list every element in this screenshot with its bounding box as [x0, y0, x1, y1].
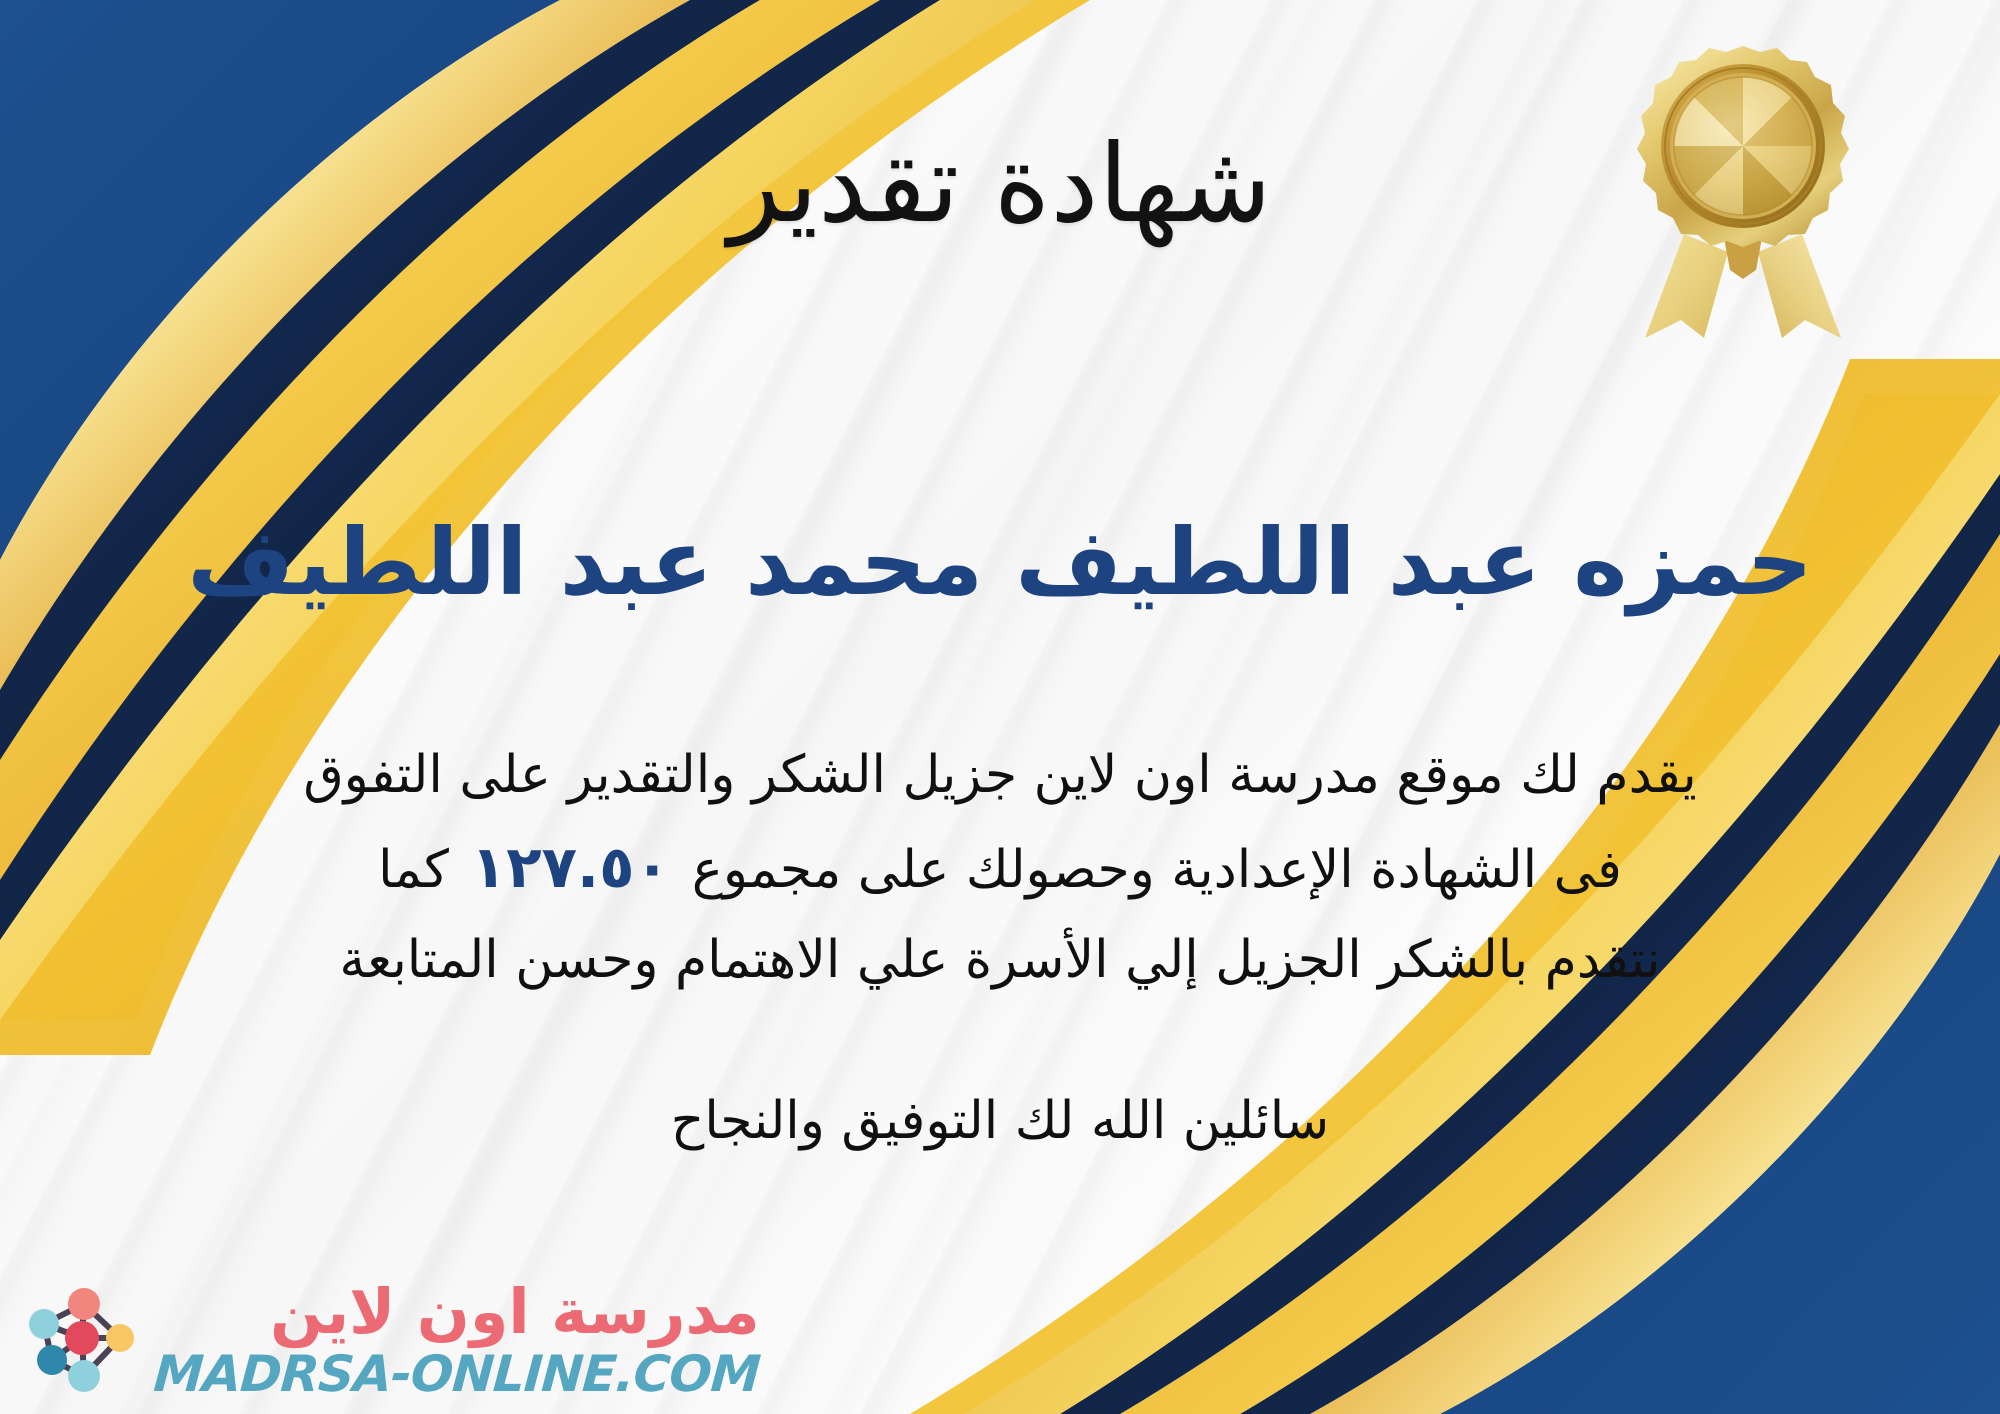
node-lightblue-bottom [68, 1360, 100, 1392]
certificate-body: يقدم لك موقع مدرسة اون لاين جزيل الشكر و… [90, 732, 1910, 1004]
body-line-1: يقدم لك موقع مدرسة اون لاين جزيل الشكر و… [90, 732, 1910, 819]
network-nodes-icon [22, 1280, 142, 1400]
gold-medal-rosette-icon [1612, 38, 1874, 338]
brand-logo[interactable]: مدرسة اون لاين MADRSA-ONLINE.COM [22, 1280, 760, 1400]
node-darkteal [37, 1345, 67, 1375]
body-line-2: فى الشهادة الإعدادية وحصولك على مجموع١٢٧… [90, 819, 1910, 916]
logo-arabic-name: مدرسة اون لاين [270, 1281, 760, 1343]
body-line-3: نتقدم بالشكر الجزيل إلي الأسرة علي الاهت… [90, 917, 1910, 1004]
node-amber [106, 1324, 134, 1352]
node-lightblue-left [29, 1309, 59, 1339]
certificate-canvas: شهادة تقدير حمزه عبد اللطيف محمد عبد الل… [0, 0, 2000, 1414]
medal-face [1674, 77, 1812, 215]
closing-wish: سائلين الله لك التوفيق والنجاح [0, 1080, 2000, 1163]
node-red-center [65, 1321, 99, 1355]
total-score-value: ١٢٧.٥٠ [449, 833, 692, 901]
logo-wordmark: مدرسة اون لاين MADRSA-ONLINE.COM [154, 1281, 760, 1399]
node-salmon [68, 1288, 100, 1320]
body-line-2-suffix: كما [378, 840, 449, 900]
recipient-name: حمزه عبد اللطيف محمد عبد اللطيف [0, 512, 2000, 613]
logo-website-url: MADRSA-ONLINE.COM [152, 1349, 761, 1399]
body-line-2-prefix: فى الشهادة الإعدادية وحصولك على مجموع [692, 840, 1622, 900]
medal-ribbon-tails [1645, 234, 1841, 338]
